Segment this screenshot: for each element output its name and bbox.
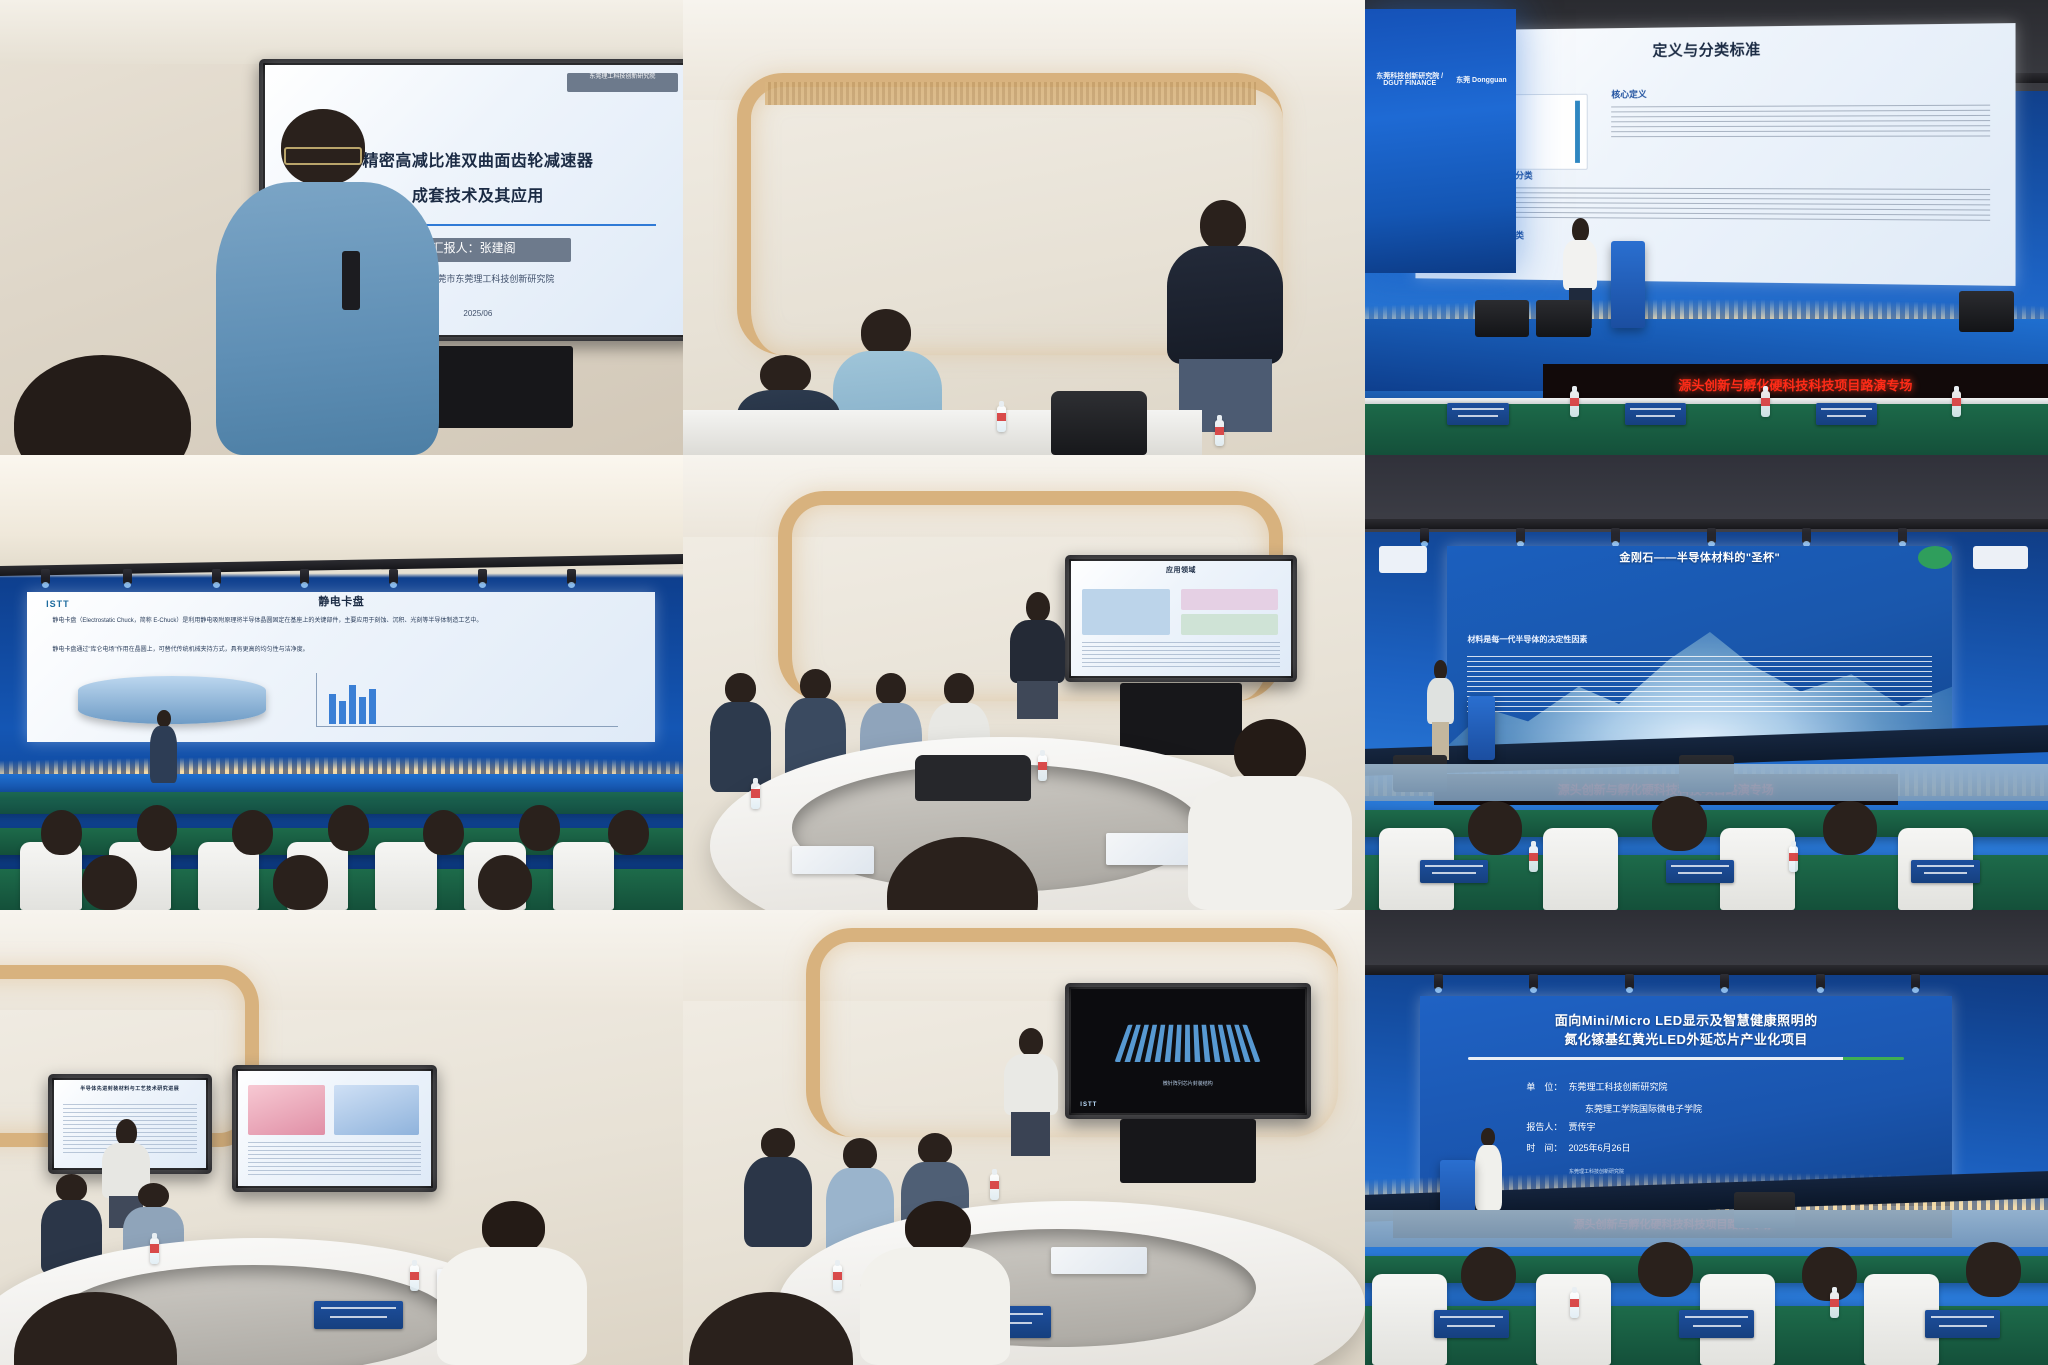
- slide-unit-row: 单 位： 东莞理工科技创新研究院: [1526, 1080, 1667, 1093]
- stage-lamp: [1611, 528, 1620, 543]
- lighting-truss: [1365, 965, 2048, 975]
- stage-speaker: [1427, 660, 1454, 760]
- stage-lamp: [1516, 528, 1525, 543]
- photo-panel-6[interactable]: 金刚石——半导体材料的"圣杯" 材料是每一代半导体的决定性因素 源头创新与孵化硬…: [1365, 455, 2048, 910]
- stage-lamp: [1911, 974, 1920, 989]
- water-bottle: [1789, 846, 1798, 872]
- slide-applications: 应用领域: [1071, 561, 1291, 676]
- presentation-display: 微针阵列芯片封装结构 ISTT: [1065, 983, 1311, 1120]
- stage-lamp: [212, 569, 221, 584]
- stage-lamp: [567, 569, 576, 584]
- table-nameplate: [1625, 403, 1686, 426]
- slide-unit-row-2: 东莞理工学院国际微电子学院: [1585, 1099, 1702, 1117]
- photo-panel-2[interactable]: [683, 0, 1366, 455]
- stage-lamp: [1802, 528, 1811, 543]
- water-bottle: [410, 1265, 419, 1291]
- table-nameplate: [1447, 403, 1508, 426]
- audience-head: [519, 805, 560, 851]
- slide-image: [1181, 589, 1278, 610]
- stage-speaker: [150, 710, 177, 783]
- unit-line2: 东莞理工学院国际微电子学院: [1585, 1104, 1702, 1114]
- water-bottle: [1570, 391, 1579, 417]
- ceiling: [0, 0, 683, 64]
- audience-head: [82, 855, 137, 910]
- water-bottle: [751, 783, 760, 809]
- slide-divider: [1468, 1057, 1905, 1060]
- table-nameplate: [1434, 1310, 1509, 1337]
- photo-panel-8[interactable]: 微针阵列芯片封装结构 ISTT: [683, 910, 1366, 1365]
- water-bottle: [990, 1174, 999, 1200]
- seat-back: [1543, 828, 1618, 910]
- table-nameplate: [1679, 1310, 1754, 1337]
- carpet: [1365, 1210, 2048, 1246]
- chair: [1051, 391, 1147, 455]
- water-bottle: [833, 1265, 842, 1291]
- stage-lamp: [123, 569, 132, 584]
- slide-right: [238, 1071, 431, 1186]
- water-bottle: [1529, 846, 1538, 872]
- water-bottle: [1570, 1292, 1579, 1318]
- booklet: [1051, 1247, 1147, 1274]
- presenter-figure: [1167, 200, 1283, 428]
- water-bottle: [997, 406, 1006, 432]
- chair: [915, 755, 1031, 801]
- stage-lamp: [1816, 974, 1825, 989]
- table-nameplate: [314, 1301, 403, 1328]
- slide-title-line2: 氮化镓基红黄光LED外延芯片产业化项目: [1420, 1032, 1952, 1048]
- led-logo-dongguan: 东莞 Dongguan: [1447, 77, 1515, 85]
- foreground-attendee: [1188, 719, 1352, 910]
- slide-title: 金刚石——半导体材料的"圣杯": [1447, 552, 1952, 566]
- audience-head: [1461, 1247, 1516, 1302]
- slide-chart-b: [334, 1085, 419, 1136]
- slide-section-3: 技术指标分类: [1473, 229, 1991, 247]
- presenter-name: 贾传宇: [1568, 1120, 1595, 1133]
- table-nameplate: [1420, 860, 1488, 883]
- presentation-display: 应用领域: [1065, 555, 1297, 682]
- led-logo-institute: 东莞科技创新研究院 / DGUT FINANCE: [1372, 73, 1447, 88]
- audience-head: [1823, 801, 1878, 856]
- wood-slat-band: [765, 82, 1257, 105]
- slide-body-lines: [248, 1142, 422, 1174]
- audience-head: [1966, 1242, 2021, 1297]
- standing-presenter: [1010, 592, 1065, 719]
- attendee-head: [760, 355, 811, 394]
- slide-body-lines: [1467, 656, 1932, 716]
- slide-body-lines: [1612, 105, 1990, 137]
- attendee-head: [861, 309, 911, 355]
- slide-corner-tag: 东莞理工科技创新研究院: [567, 73, 677, 92]
- slide-title: 静电卡盘: [27, 596, 655, 610]
- slide-title: 应用领域: [1071, 567, 1291, 576]
- logo-dongguan: [1379, 546, 1427, 573]
- slide-title-line1: 面向Mini/Micro LED显示及智慧健康照明的: [1420, 1013, 1952, 1029]
- photo-panel-1[interactable]: 东莞理工科技创新研究院 精密高减比准双曲面齿轮减速器 成套技术及其应用 汇报人：…: [0, 0, 683, 455]
- podium-speaker: [1475, 1128, 1502, 1210]
- seated-attendee: [744, 1128, 812, 1246]
- photo-panel-5[interactable]: 应用领域: [683, 455, 1366, 910]
- stage-lamp: [1707, 528, 1716, 543]
- slide-chart-a: [248, 1085, 325, 1136]
- slide-title: 微针阵列芯片封装结构: [1071, 1081, 1305, 1089]
- water-bottle: [1830, 1292, 1839, 1318]
- booklet: [792, 846, 874, 873]
- slide-footer-logo: ISTT: [1080, 1102, 1097, 1108]
- stage-lamp: [1529, 974, 1538, 989]
- water-bottle: [1952, 391, 1961, 417]
- audience-head: [423, 810, 464, 856]
- carpet: [1365, 764, 2048, 800]
- slide-diamond-semiconductor: 金刚石——半导体材料的"圣杯" 材料是每一代半导体的决定性因素: [1447, 546, 1952, 746]
- presenter-polo: [1167, 246, 1283, 364]
- audience-head: [41, 810, 82, 856]
- logo-green-certification: [1918, 546, 1952, 569]
- stage-speaker-box: [1475, 300, 1530, 336]
- ceiling: [0, 455, 683, 569]
- stage-lamp: [478, 569, 487, 584]
- unit-label: 单 位：: [1526, 1080, 1562, 1093]
- presentation-display-right: [232, 1065, 437, 1192]
- seat-back: [553, 842, 614, 910]
- podium: [1611, 241, 1645, 327]
- presenter-head: [1200, 200, 1246, 250]
- stage-lamp: [41, 569, 50, 584]
- stage-speaker-box: [1959, 291, 2014, 332]
- slide-subtitle: 材料是每一代半导体的决定性因素: [1467, 634, 1932, 646]
- water-bottle: [150, 1238, 159, 1264]
- podium: [1468, 696, 1495, 760]
- seated-attendee: [710, 673, 771, 791]
- audience-head: [232, 810, 273, 856]
- audience-head: [328, 805, 369, 851]
- slide-section-1: 核心定义: [1612, 87, 1990, 103]
- table-nameplate: [1816, 403, 1877, 426]
- audience-head: [1468, 801, 1523, 856]
- stage-speaker-box: [1536, 300, 1591, 336]
- slide-image: [1082, 589, 1170, 635]
- stage-lamp: [1625, 974, 1634, 989]
- standing-presenter: [1004, 1028, 1059, 1155]
- speaker-shirt: [216, 182, 439, 455]
- foreground-attendee: [437, 1201, 587, 1365]
- foreground-attendee: [860, 1201, 1010, 1365]
- presenter-label: 报告人：: [1526, 1120, 1562, 1133]
- speaker-figure: [212, 109, 444, 455]
- led-wall-left: [1365, 9, 1515, 273]
- glasses-icon: [284, 147, 363, 164]
- table-nameplate: [1925, 1310, 2000, 1337]
- unit-line1: 东莞理工科技创新研究院: [1568, 1080, 1667, 1093]
- water-bottle: [1038, 755, 1047, 781]
- gold-wave-balustrade: [0, 737, 683, 778]
- slide-electrostatic-chuck: ISTT 静电卡盘 静电卡盘（Electrostatic Chuck，简称 E-…: [27, 592, 655, 742]
- slide-presenter-row: 报告人： 贾传宇: [1526, 1120, 1595, 1133]
- logo-istt: [1973, 546, 2028, 569]
- audience-head: [137, 805, 178, 851]
- audience-head: [273, 855, 328, 910]
- slide-image: [1181, 614, 1278, 635]
- photo-panel-7[interactable]: 半导体先进封装材料与工艺技术研究进展: [0, 910, 683, 1365]
- table-nameplate: [1666, 860, 1734, 883]
- slide-title: 半导体先进封装材料与工艺技术研究进展: [54, 1086, 206, 1092]
- stage-lamp: [1420, 528, 1429, 543]
- audience-head: [1652, 796, 1707, 851]
- stage-lamp: [300, 569, 309, 584]
- slide-chip-array: 微针阵列芯片封装结构 ISTT: [1071, 989, 1305, 1114]
- photo-panel-4[interactable]: ISTT 静电卡盘 静电卡盘（Electrostatic Chuck，简称 E-…: [0, 455, 683, 910]
- slide-body: 静电卡盘（Electrostatic Chuck，简称 E-Chuck）是利用静…: [52, 617, 630, 626]
- display-stand: [1120, 1119, 1257, 1183]
- slide-text-lines: [1082, 642, 1280, 667]
- slide-chart-axes: [316, 673, 617, 727]
- audience-head: [1638, 1242, 1693, 1297]
- photo-collage-grid: 东莞理工科技创新研究院 精密高减比准双曲面齿轮减速器 成套技术及其应用 汇报人：…: [0, 0, 2048, 1365]
- water-bottle: [1215, 420, 1224, 446]
- stage-lamp: [389, 569, 398, 584]
- audience-head: [608, 810, 649, 856]
- photo-panel-9[interactable]: 面向Mini/Micro LED显示及智慧健康照明的 氮化镓基红黄光LED外延芯…: [1365, 910, 2048, 1365]
- photo-panel-3[interactable]: 定义与分类标准 核心定义 前道与后道分类 技术指标分类 东莞科技创新研究院 / …: [1365, 0, 2048, 455]
- slide-note: 静电卡盘通过"库仑电场"作用在晶圆上，可替代传统机械夹持方式，具有更高的均匀性与…: [52, 646, 630, 655]
- seat-back: [375, 842, 436, 910]
- stage-lamp: [1434, 974, 1443, 989]
- stage-lamp: [1898, 528, 1907, 543]
- slide-section-2: 前道与后道分类: [1473, 170, 1991, 185]
- microphone-icon: [342, 251, 361, 310]
- table-nameplate: [1911, 860, 1979, 883]
- slide-body-lines: [1473, 187, 1991, 225]
- stage-lamp: [1720, 974, 1729, 989]
- water-bottle: [1761, 391, 1770, 417]
- audience-head: [478, 855, 533, 910]
- lighting-truss: [1365, 519, 2048, 529]
- chip-array-graphic: [1115, 1024, 1261, 1061]
